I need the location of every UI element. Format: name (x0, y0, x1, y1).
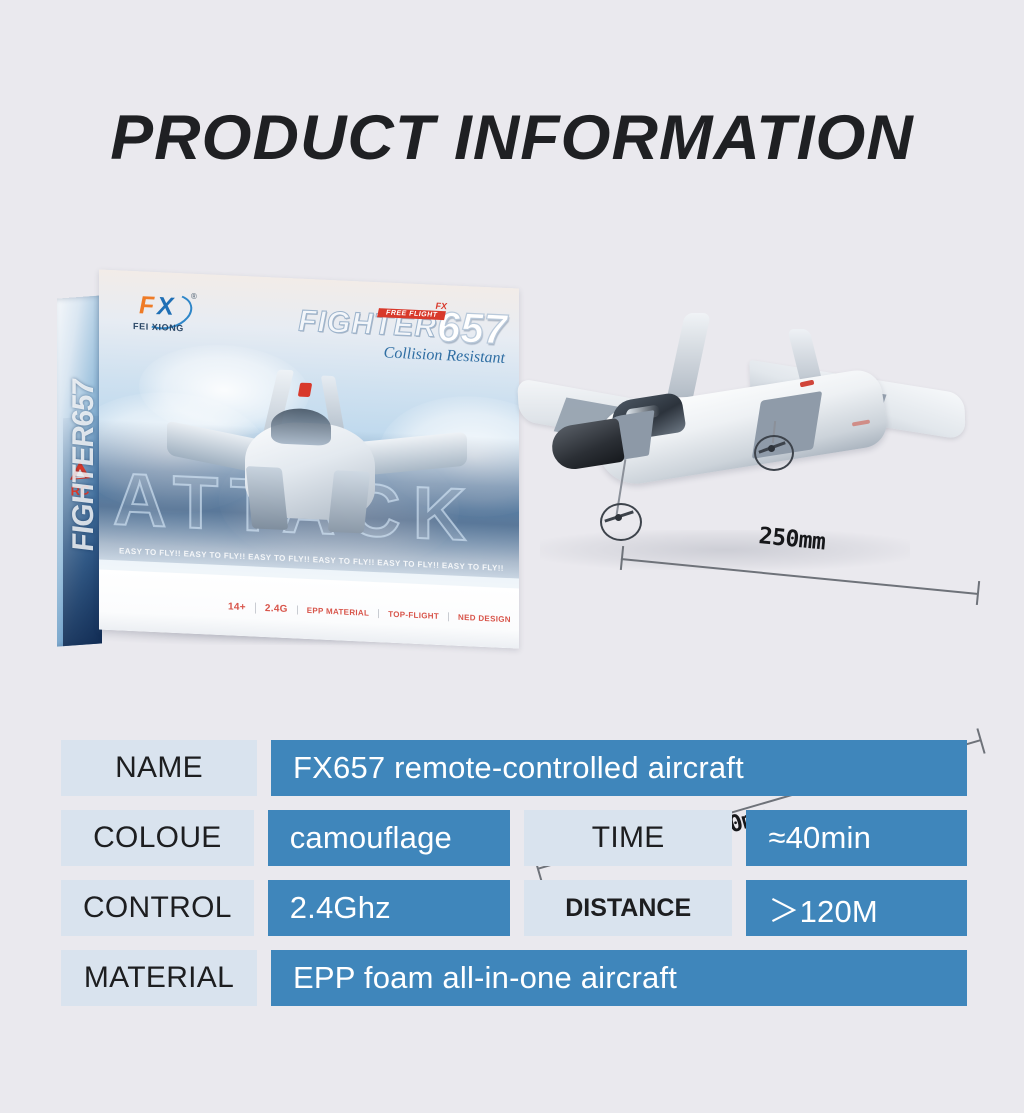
spec-label-colour: COLOUE (61, 810, 254, 866)
fx-brand-logo: F X ® FEI XIONG (121, 288, 231, 339)
box-feature-item: 2.4G (255, 603, 297, 616)
logo-letter-f: F (139, 291, 154, 321)
product-retail-box: RC FIGHTER657 ATTACK F X ® FEI XIONG (57, 279, 519, 654)
spec-label-time: TIME (524, 810, 732, 866)
propeller-icon (600, 503, 642, 541)
box-feature-item: 14+ (219, 601, 255, 614)
spec-value-control: 2.4Ghz (268, 880, 510, 936)
aircraft-shadow (540, 530, 910, 570)
cell-gap (257, 740, 271, 796)
jet-tail-fin-center (667, 313, 711, 397)
spec-value-time: ≈40min (746, 810, 967, 866)
propeller-hub-icon (615, 514, 622, 521)
cell-gap (257, 950, 271, 1006)
brand-name: FEI XIONG (133, 321, 184, 333)
spec-label-name: NAME (61, 740, 257, 796)
cell-gap (254, 810, 268, 866)
page-title: PRODUCT INFORMATION (0, 102, 1024, 174)
aircraft-photo-stage (500, 315, 970, 645)
spec-value-material: EPP foam all-in-one aircraft (271, 950, 967, 1006)
logo-letter-x: X (157, 292, 174, 322)
box-spine: RC FIGHTER657 (57, 295, 102, 646)
box-badge-fx: FX (435, 301, 447, 312)
spec-value-distance: ＞120M (746, 880, 967, 936)
spec-value-colour: camouflage (268, 810, 510, 866)
propeller-hub-icon (768, 445, 775, 452)
cell-gap (732, 810, 746, 866)
spec-label-control: CONTROL (61, 880, 254, 936)
spec-row-name: NAME FX657 remote-controlled aircraft (61, 740, 967, 796)
spec-row-colour-time: COLOUE camouflage TIME ≈40min (61, 810, 967, 866)
cell-gap (510, 880, 524, 936)
spec-value-name: FX657 remote-controlled aircraft (271, 740, 967, 796)
cell-gap (254, 880, 268, 936)
spec-label-distance: DISTANCE (524, 880, 732, 936)
box-jet-artwork (149, 358, 479, 553)
box-feature-item: TOP-FLIGHT (378, 609, 448, 621)
box-spine-title: FIGHTER657 (67, 304, 101, 626)
spec-row-control-distance: CONTROL 2.4Ghz DISTANCE ＞120M (61, 880, 967, 936)
cell-gap (732, 880, 746, 936)
spec-table: NAME FX657 remote-controlled aircraft CO… (61, 740, 967, 1020)
cell-gap (510, 810, 524, 866)
registered-trademark-icon: ® (191, 292, 197, 301)
box-front-face: ATTACK F X ® FEI XIONG FX FREE FLIGHT FI… (99, 269, 519, 648)
spec-label-material: MATERIAL (61, 950, 257, 1006)
spec-row-material: MATERIAL EPP foam all-in-one aircraft (61, 950, 967, 1006)
box-title-number: 657 (437, 303, 507, 353)
box-feature-item: EPP MATERIAL (297, 605, 378, 618)
dimension-tick-end-250mm (976, 581, 980, 605)
hero-section: RC FIGHTER657 ATTACK F X ® FEI XIONG (0, 255, 1024, 675)
box-feature-list: 14+ 2.4G EPP MATERIAL TOP-FLIGHT NED DES… (219, 601, 519, 626)
